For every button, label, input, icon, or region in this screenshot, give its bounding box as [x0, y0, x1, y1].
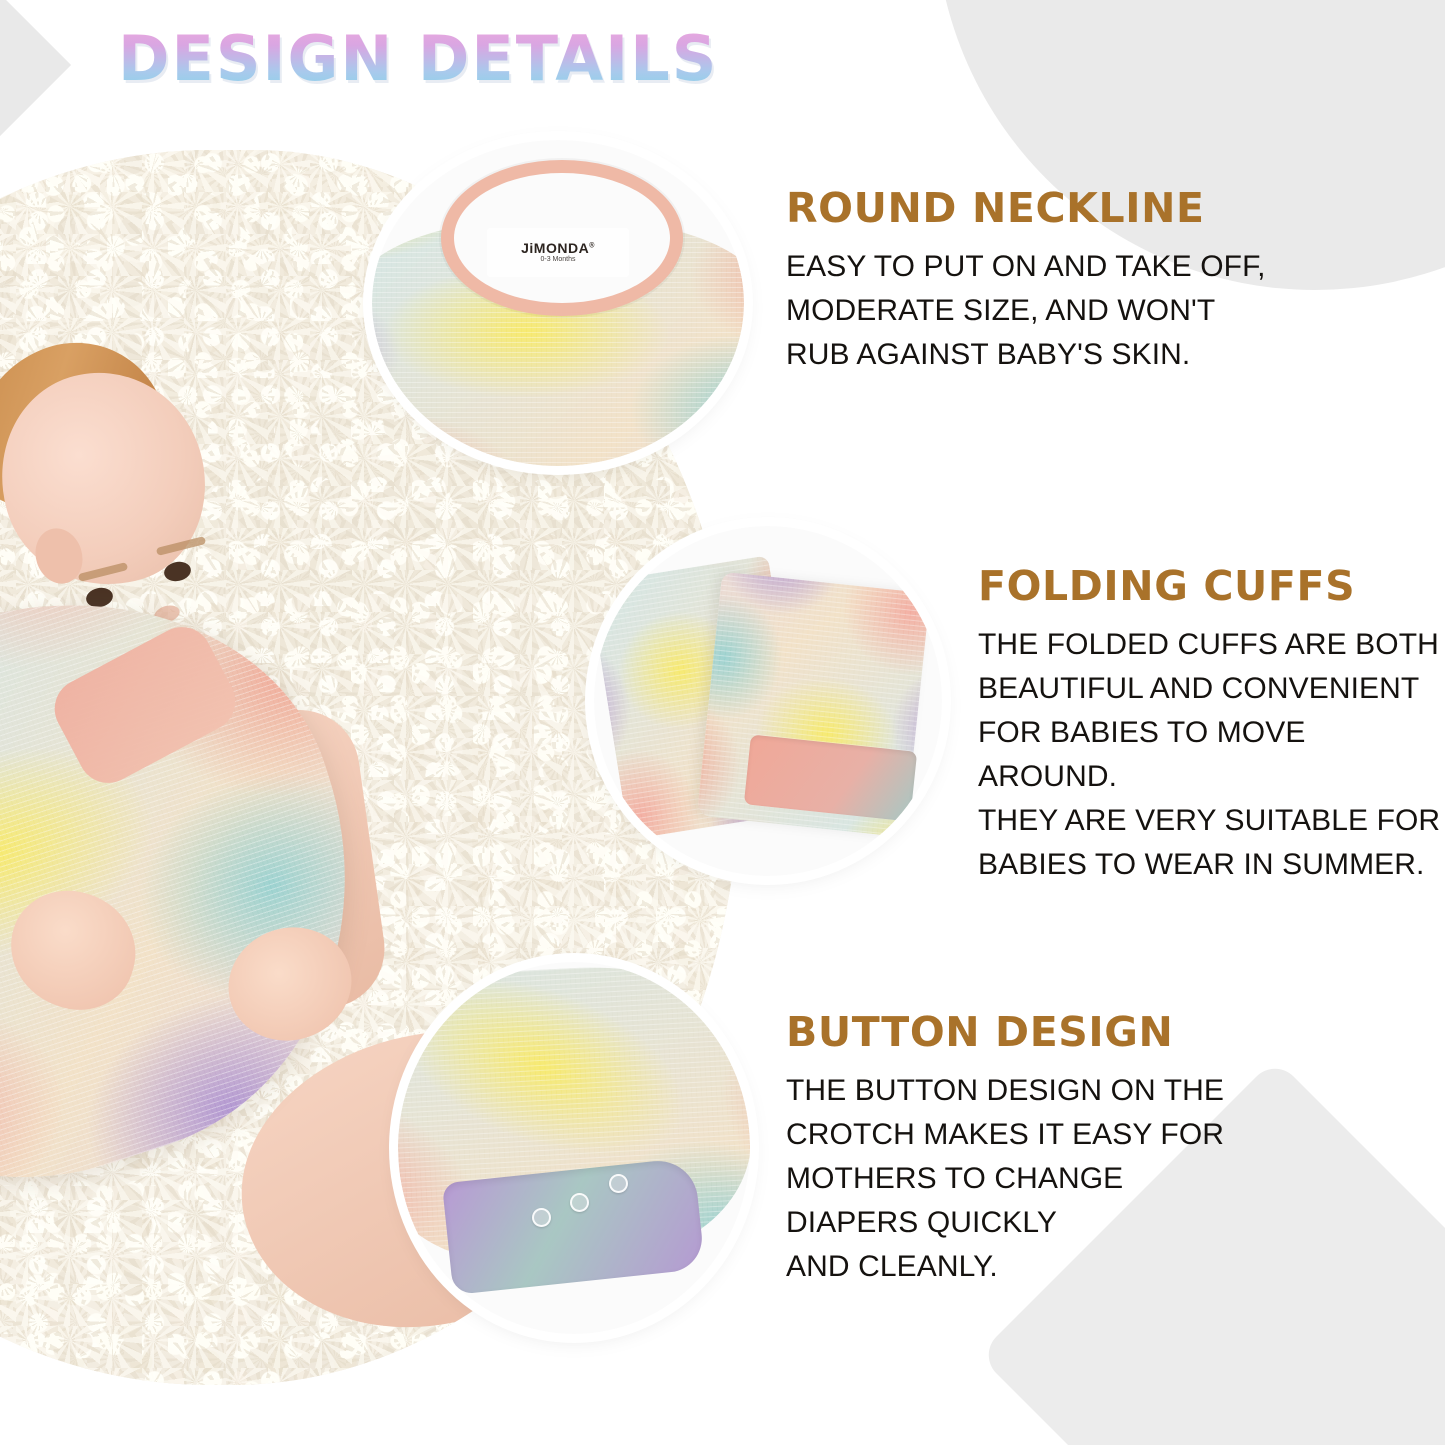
button-photo-inner	[398, 962, 750, 1334]
design-details-infographic: JiMONDA® 0-3 Months	[0, 0, 1445, 1445]
folded-cuff-closeup-photo	[594, 526, 942, 876]
feature-block-cuffs: FOLDING CUFFS THE FOLDED CUFFS ARE BOTH …	[978, 566, 1445, 887]
feature-body-buttons: THE BUTTON DESIGN ON THE CROTCH MAKES IT…	[786, 1069, 1256, 1289]
feature-block-neckline: ROUND NECKLINE EASY TO PUT ON AND TAKE O…	[786, 188, 1426, 377]
brand-name: JiMONDA®	[521, 241, 595, 255]
top-left-diamond-shape	[0, 0, 71, 137]
feature-heading-cuffs: FOLDING CUFFS	[978, 566, 1445, 607]
neckline-closeup-photo: JiMONDA® 0-3 Months	[372, 140, 744, 466]
feature-heading-neckline: ROUND NECKLINE	[786, 188, 1426, 229]
crotch-snap-buttons-closeup-photo	[398, 962, 750, 1334]
page-title: DESIGN DETAILS	[118, 22, 718, 95]
top-right-gray-fill	[1215, 0, 1445, 112]
feature-heading-buttons: BUTTON DESIGN	[786, 1012, 1256, 1053]
feature-block-buttons: BUTTON DESIGN THE BUTTON DESIGN ON THE C…	[786, 1012, 1256, 1289]
feature-body-cuffs: THE FOLDED CUFFS ARE BOTH BEAUTIFUL AND …	[978, 623, 1445, 887]
neckline-photo-inner: JiMONDA® 0-3 Months	[372, 140, 744, 466]
snap-button	[532, 1208, 551, 1227]
cuff-photo-inner	[594, 526, 942, 876]
snap-button	[570, 1193, 589, 1212]
feature-body-neckline: EASY TO PUT ON AND TAKE OFF, MODERATE SI…	[786, 245, 1426, 377]
brand-label: JiMONDA® 0-3 Months	[487, 228, 628, 277]
size-label: 0-3 Months	[540, 256, 575, 263]
bottom-right-gray-fill	[1195, 1265, 1445, 1445]
